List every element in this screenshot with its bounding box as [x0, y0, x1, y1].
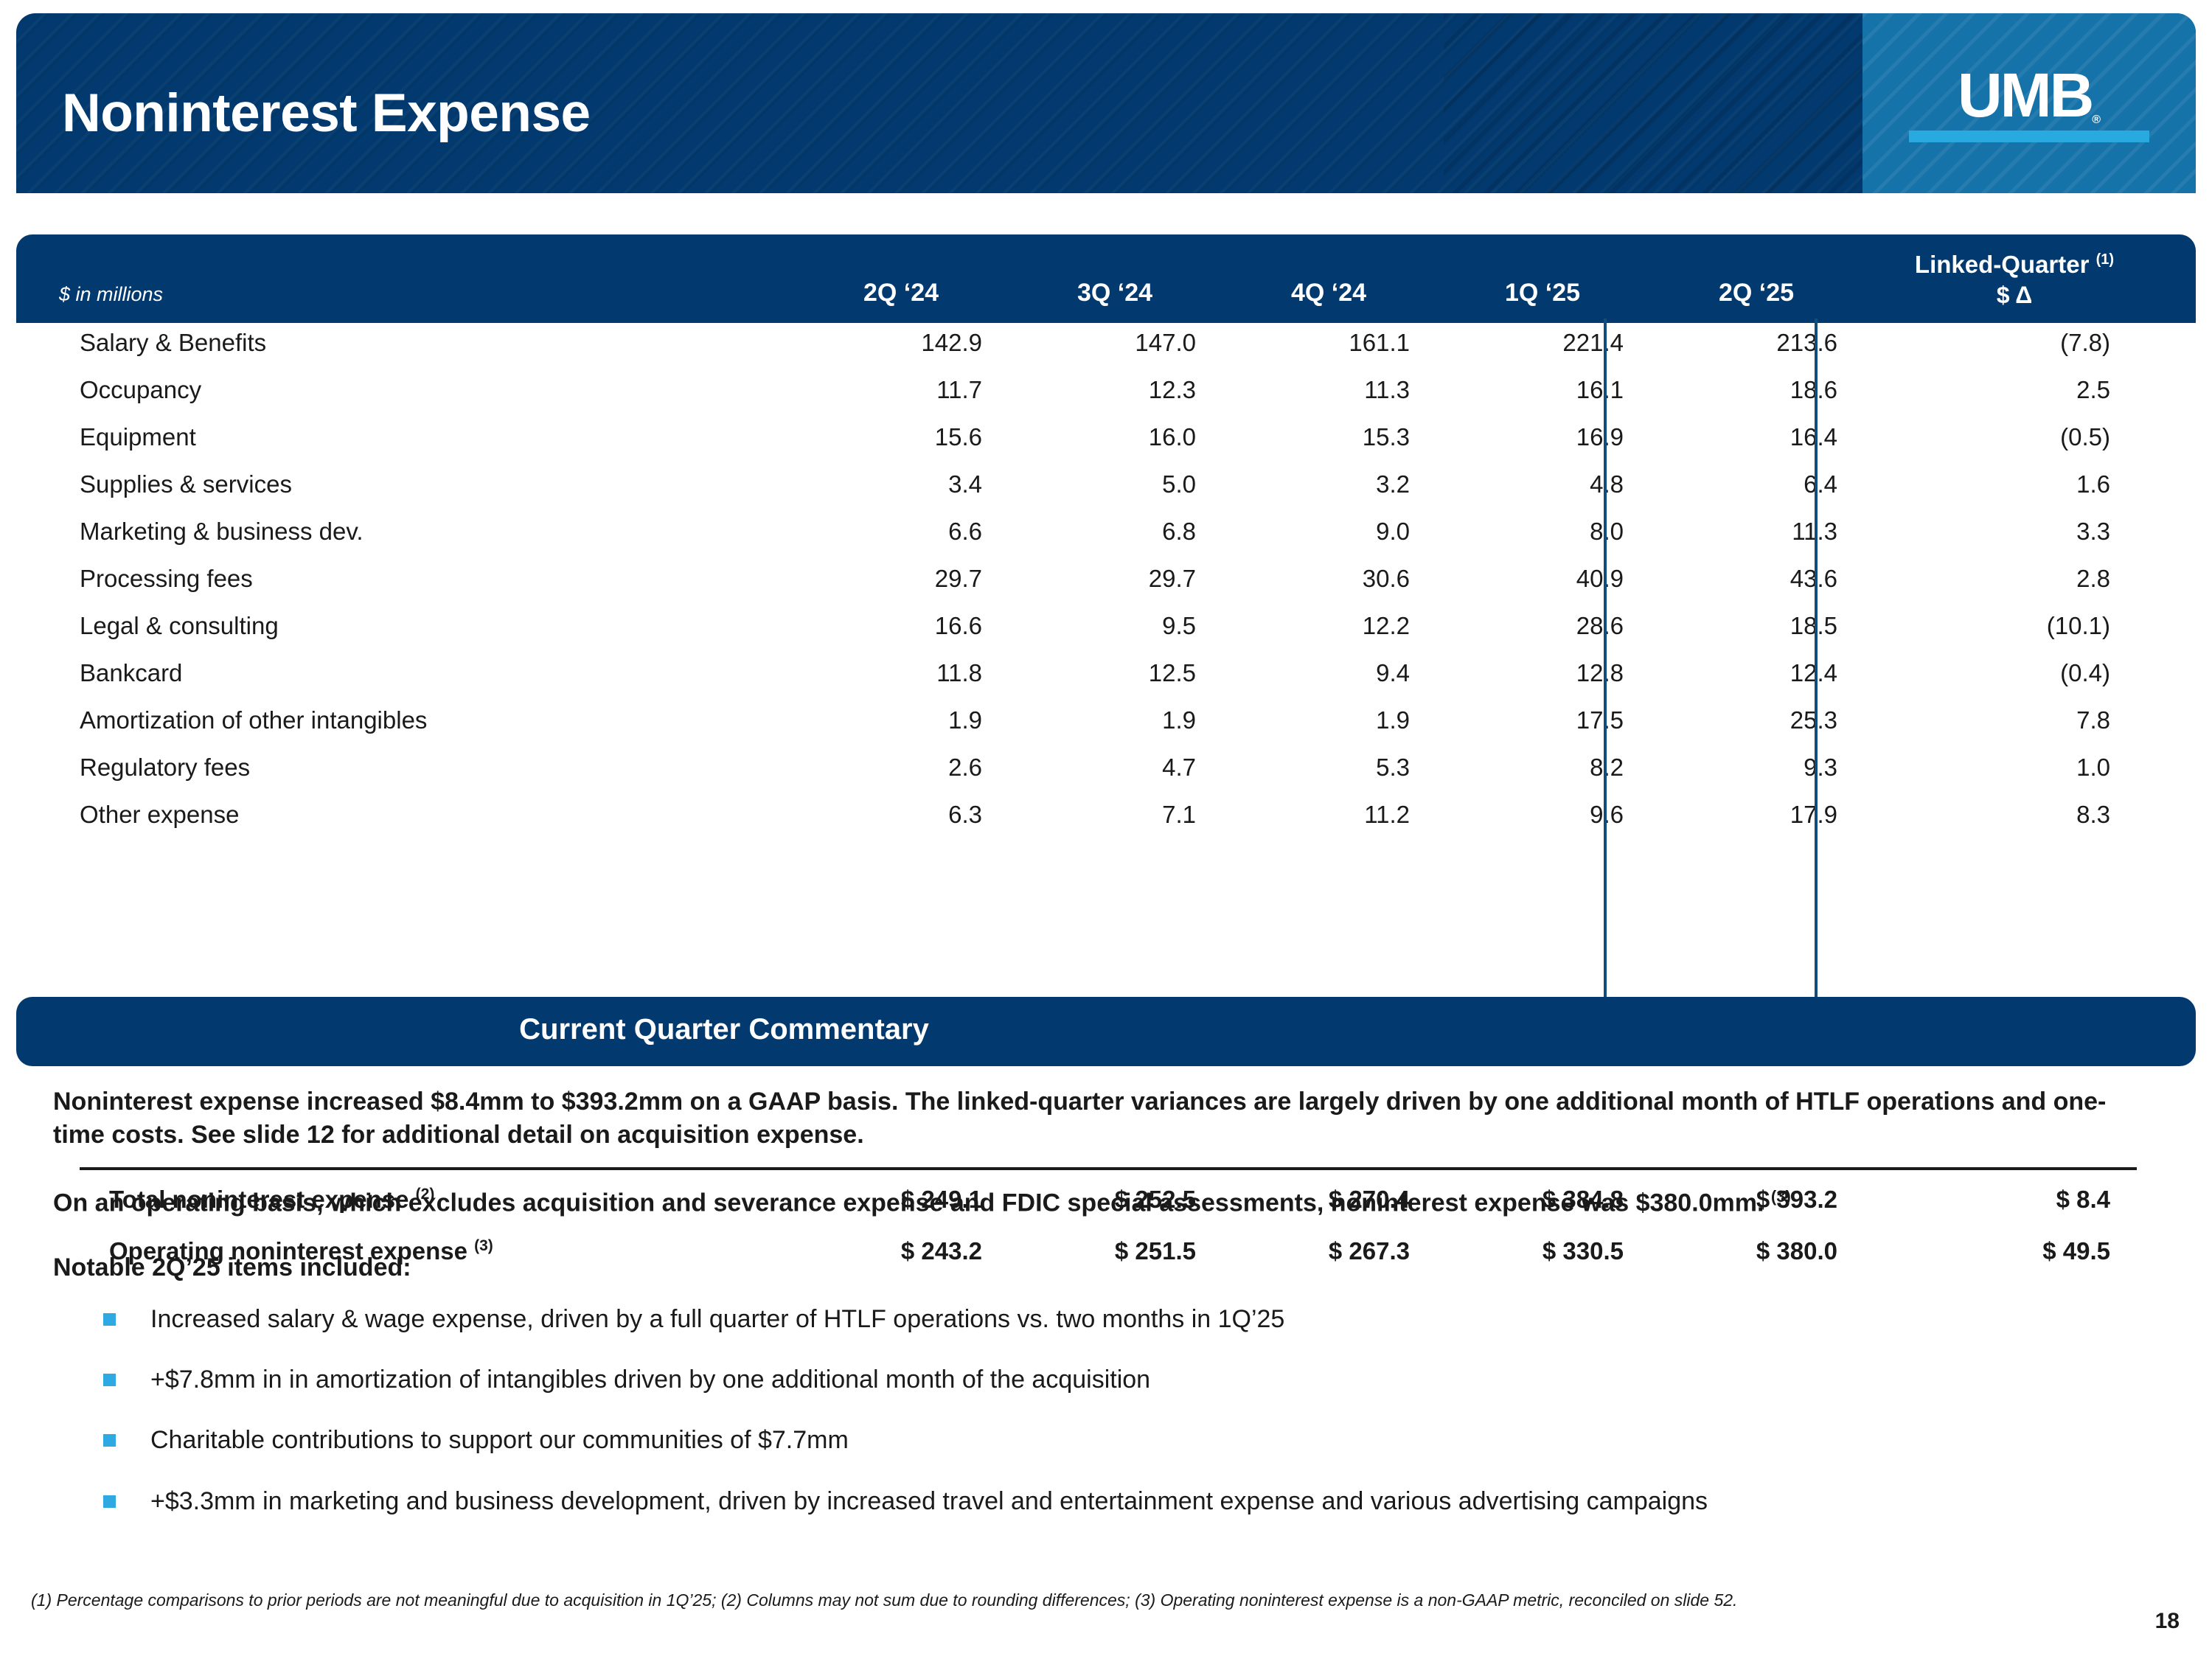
slide-title-bar: Noninterest Expense UMB® — [16, 13, 2196, 193]
bullet-square-icon — [103, 1313, 116, 1326]
table-cell: 6.6 — [820, 518, 982, 546]
bullet-square-icon — [103, 1374, 116, 1386]
column-header-4q24: 4Q ‘24 — [1248, 279, 1410, 307]
row-label: Equipment — [80, 423, 196, 451]
table-cell: 1.9 — [820, 706, 982, 734]
list-item: Charitable contributions to support our … — [53, 1424, 2140, 1456]
table-cell: 17.5 — [1461, 706, 1624, 734]
table-cell: 4.7 — [1034, 754, 1196, 782]
table-row: Processing fees29.729.730.640.943.62.8 — [16, 559, 2196, 606]
footnote-ref-1: (1) — [2096, 251, 2114, 268]
table-cell: 8.3 — [1948, 801, 2110, 829]
bullet-square-icon — [103, 1495, 116, 1508]
table-row: Supplies & services3.45.03.24.86.41.6 — [16, 465, 2196, 512]
table-cell: 11.7 — [820, 376, 982, 404]
linked-quarter-label: Linked-Quarter — [1915, 251, 2090, 278]
table-cell: 7.8 — [1948, 706, 2110, 734]
units-label: $ in millions — [59, 283, 163, 306]
table-cell: 8.2 — [1461, 754, 1624, 782]
table-cell: (0.5) — [1948, 423, 2110, 451]
table-header-band: $ in millions 2Q ‘24 3Q ‘24 4Q ‘24 1Q ‘2… — [16, 234, 2196, 323]
list-item-text: Charitable contributions to support our … — [150, 1426, 849, 1454]
table-cell: 3.3 — [1948, 518, 2110, 546]
row-label: Other expense — [80, 801, 239, 829]
column-header-2q24: 2Q ‘24 — [820, 279, 982, 307]
table-cell: 11.3 — [1675, 518, 1837, 546]
table-cell: 147.0 — [1034, 329, 1196, 357]
table-cell: 11.3 — [1248, 376, 1410, 404]
table-cell: 3.2 — [1248, 470, 1410, 498]
umb-logo: UMB® — [1909, 64, 2149, 142]
table-cell: 30.6 — [1248, 565, 1410, 593]
expense-table: Salary & Benefits142.9147.0161.1221.4213… — [16, 323, 2196, 959]
list-item: +$3.3mm in marketing and business develo… — [53, 1485, 2140, 1517]
notable-items-list: Increased salary & wage expense, driven … — [53, 1303, 2140, 1517]
footnote-text: (1) Percentage comparisons to prior peri… — [31, 1589, 2066, 1612]
table-cell: 28.6 — [1461, 612, 1624, 640]
table-cell: 40.9 — [1461, 565, 1624, 593]
table-cell: 8.0 — [1461, 518, 1624, 546]
row-label: Regulatory fees — [80, 754, 250, 782]
table-cell: 16.9 — [1461, 423, 1624, 451]
table-row: Bankcard11.812.59.412.812.4(0.4) — [16, 653, 2196, 700]
notable-items-heading: Notable 2Q’25 items included: — [53, 1253, 2140, 1282]
commentary-paragraph-2-text: On an operating basis, which excludes ac… — [53, 1189, 1764, 1217]
table-cell: 12.8 — [1461, 659, 1624, 687]
registered-trademark-icon: ® — [2092, 114, 2101, 126]
list-item-text: +$7.8mm in in amortization of intangible… — [150, 1366, 1150, 1394]
row-label: Salary & Benefits — [80, 329, 266, 357]
table-cell: 17.9 — [1675, 801, 1837, 829]
table-cell: (10.1) — [1948, 612, 2110, 640]
page-number: 18 — [2155, 1609, 2180, 1634]
table-cell: 16.6 — [820, 612, 982, 640]
table-row: Amortization of other intangibles1.91.91… — [16, 700, 2196, 748]
table-cell: 12.3 — [1034, 376, 1196, 404]
list-item: Increased salary & wage expense, driven … — [53, 1303, 2140, 1335]
table-cell: 18.5 — [1675, 612, 1837, 640]
table-row: Regulatory fees2.64.75.38.29.31.0 — [16, 748, 2196, 795]
bullet-square-icon — [103, 1434, 116, 1447]
list-item: +$7.8mm in in amortization of intangible… — [53, 1363, 2140, 1396]
table-cell: 12.5 — [1034, 659, 1196, 687]
row-label: Occupancy — [80, 376, 201, 404]
commentary-section: Noninterest expense increased $8.4mm to … — [53, 1085, 2140, 1545]
table-cell: 12.4 — [1675, 659, 1837, 687]
table-cell: 5.3 — [1248, 754, 1410, 782]
table-cell: 16.4 — [1675, 423, 1837, 451]
commentary-paragraph-1: Noninterest expense increased $8.4mm to … — [53, 1085, 2140, 1152]
commentary-banner: Current Quarter Commentary — [16, 997, 2196, 1066]
logo-wordmark: UMB — [1958, 60, 2092, 130]
table-cell: 142.9 — [820, 329, 982, 357]
table-cell: 43.6 — [1675, 565, 1837, 593]
table-cell: (7.8) — [1948, 329, 2110, 357]
footnote-ref-3: (3) — [1771, 1187, 1791, 1206]
column-header-1q25: 1Q ‘25 — [1461, 279, 1624, 307]
column-header-linked-quarter: Linked-Quarter (1) $ Δ — [1837, 251, 2191, 309]
table-cell: 6.4 — [1675, 470, 1837, 498]
table-cell: 6.3 — [820, 801, 982, 829]
table-cell: 15.6 — [820, 423, 982, 451]
row-label: Supplies & services — [80, 470, 292, 498]
table-cell: 16.1 — [1461, 376, 1624, 404]
table-row: Equipment15.616.015.316.916.4(0.5) — [16, 417, 2196, 465]
table-cell: 9.6 — [1461, 801, 1624, 829]
table-cell: 29.7 — [1034, 565, 1196, 593]
commentary-banner-title: Current Quarter Commentary — [16, 1013, 1432, 1046]
commentary-paragraph-2: On an operating basis, which excludes ac… — [53, 1186, 2140, 1220]
table-cell: 161.1 — [1248, 329, 1410, 357]
row-label: Amortization of other intangibles — [80, 706, 427, 734]
page-title: Noninterest Expense — [62, 83, 591, 144]
table-cell: 9.5 — [1034, 612, 1196, 640]
table-cell: 1.9 — [1248, 706, 1410, 734]
table-cell: 12.2 — [1248, 612, 1410, 640]
table-cell: 9.4 — [1248, 659, 1410, 687]
table-cell: 11.2 — [1248, 801, 1410, 829]
table-cell: 3.4 — [820, 470, 982, 498]
table-cell: 1.0 — [1948, 754, 2110, 782]
row-label: Marketing & business dev. — [80, 518, 364, 546]
table-cell: 2.6 — [820, 754, 982, 782]
table-row: Occupancy11.712.311.316.118.62.5 — [16, 370, 2196, 417]
list-item-text: +$3.3mm in marketing and business develo… — [150, 1487, 1708, 1515]
table-cell: 213.6 — [1675, 329, 1837, 357]
list-item-text: Increased salary & wage expense, driven … — [150, 1305, 1284, 1333]
table-cell: 6.8 — [1034, 518, 1196, 546]
table-cell: (0.4) — [1948, 659, 2110, 687]
table-cell: 9.3 — [1675, 754, 1837, 782]
table-row: Other expense6.37.111.29.617.98.3 — [16, 795, 2196, 842]
table-row: Marketing & business dev.6.66.89.08.011.… — [16, 512, 2196, 559]
umb-logo-container: UMB® — [1863, 13, 2196, 193]
table-row: Salary & Benefits142.9147.0161.1221.4213… — [16, 323, 2196, 370]
column-header-2q25: 2Q ‘25 — [1675, 279, 1837, 307]
logo-underline-bar — [1909, 131, 2149, 142]
table-cell: 9.0 — [1248, 518, 1410, 546]
table-cell: 16.0 — [1034, 423, 1196, 451]
table-cell: 29.7 — [820, 565, 982, 593]
row-label: Processing fees — [80, 565, 253, 593]
table-row: Legal & consulting16.69.512.228.618.5(10… — [16, 606, 2196, 653]
table-cell: 1.9 — [1034, 706, 1196, 734]
table-cell: 1.6 — [1948, 470, 2110, 498]
table-cell: 4.8 — [1461, 470, 1624, 498]
table-cell: 2.5 — [1948, 376, 2110, 404]
row-label: Bankcard — [80, 659, 182, 687]
row-label: Legal & consulting — [80, 612, 279, 640]
table-cell: 2.8 — [1948, 565, 2110, 593]
linked-quarter-delta-symbol: $ Δ — [1837, 282, 2191, 309]
table-cell: 221.4 — [1461, 329, 1624, 357]
table-cell: 15.3 — [1248, 423, 1410, 451]
table-cell: 5.0 — [1034, 470, 1196, 498]
table-cell: 25.3 — [1675, 706, 1837, 734]
table-cell: 11.8 — [820, 659, 982, 687]
table-cell: 7.1 — [1034, 801, 1196, 829]
table-cell: 18.6 — [1675, 376, 1837, 404]
column-header-3q24: 3Q ‘24 — [1034, 279, 1196, 307]
